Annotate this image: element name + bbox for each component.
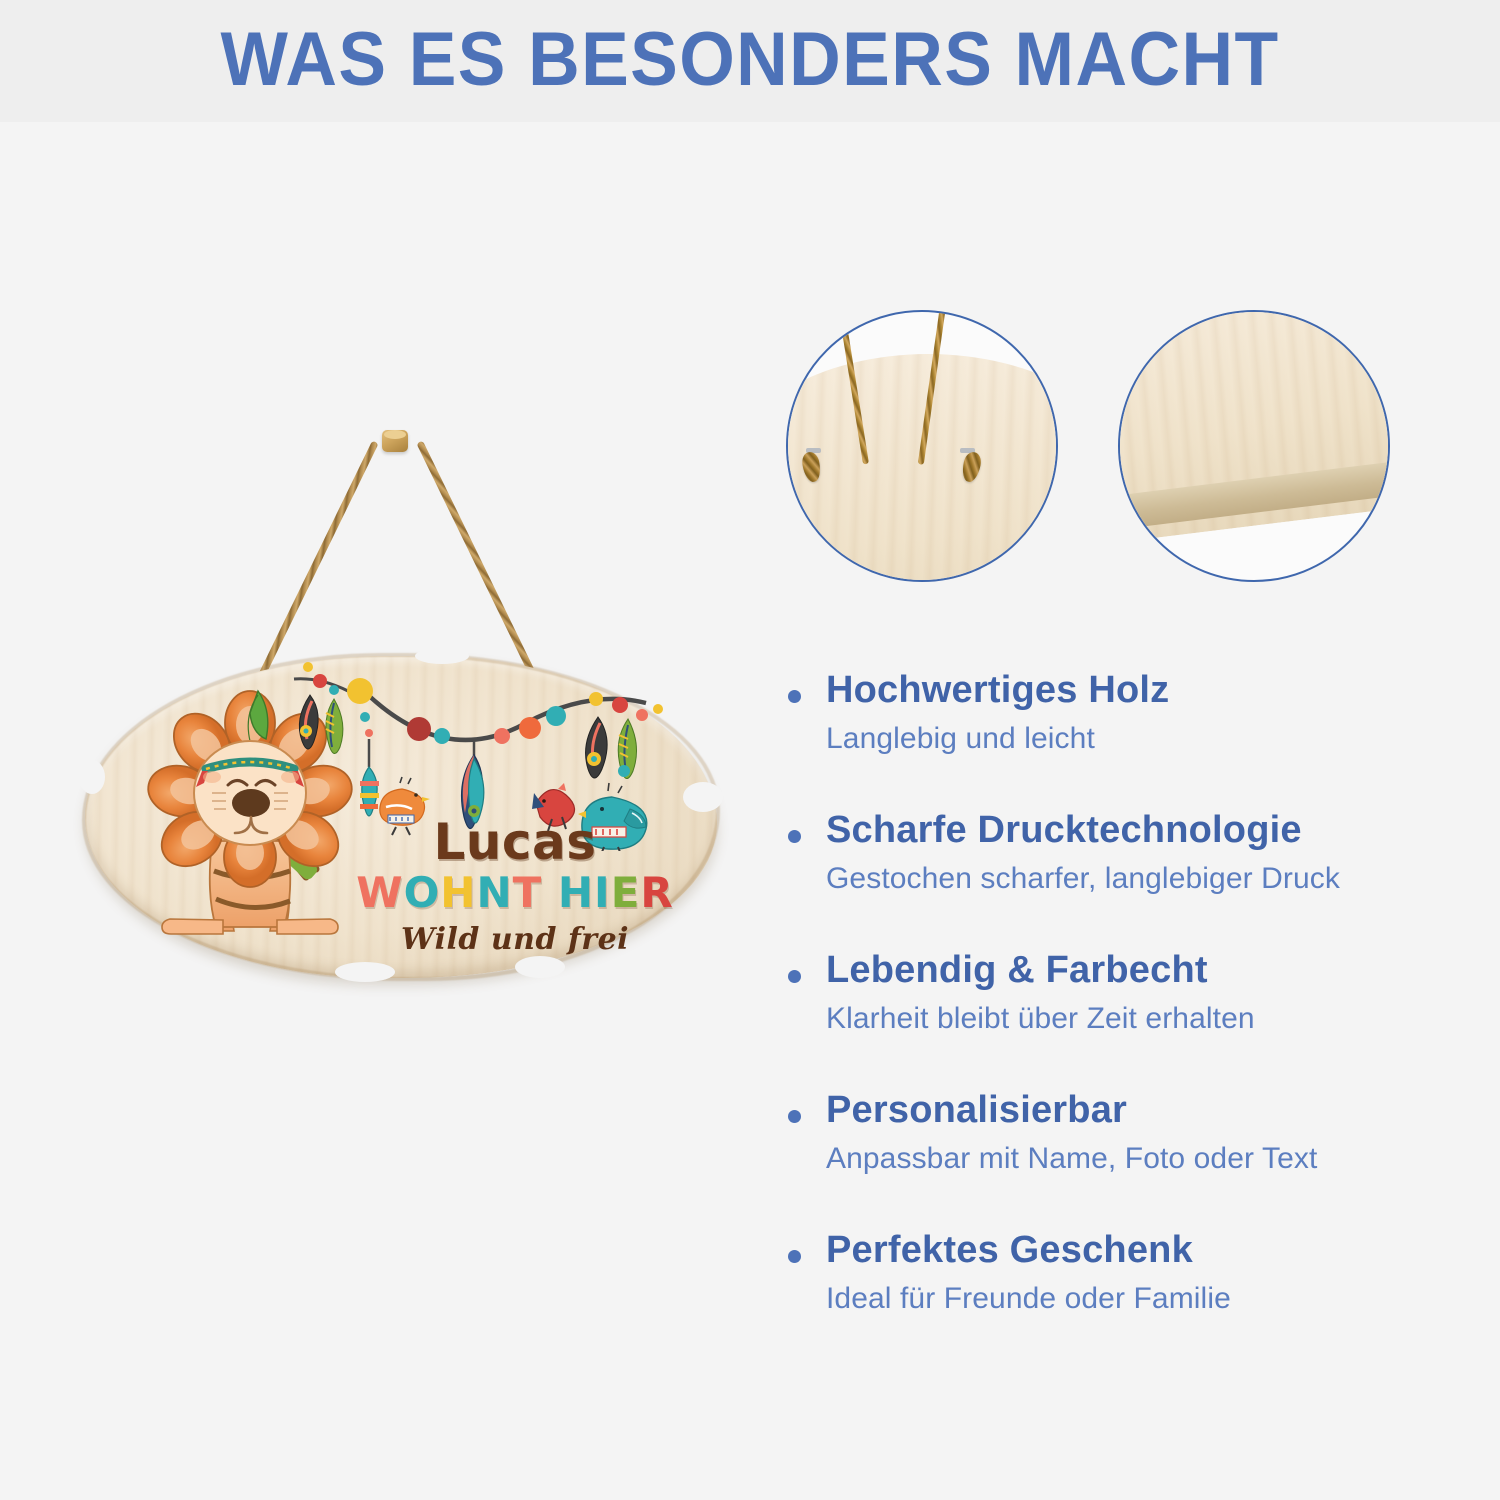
feature-item: Perfektes Geschenk Ideal für Freunde ode… bbox=[782, 1226, 1442, 1366]
bullet-dot-icon bbox=[788, 830, 801, 843]
feature-heading: Personalisierbar bbox=[826, 1089, 1127, 1132]
nose bbox=[232, 789, 270, 817]
sign-tagline: Wild und frei bbox=[340, 922, 690, 957]
feature-item: Scharfe Drucktechnologie Gestochen schar… bbox=[782, 806, 1442, 946]
bark-notch bbox=[515, 956, 565, 978]
feature-subtext: Klarheit bleibt über Zeit erhalten bbox=[826, 1002, 1255, 1036]
detail-circle-rope-knot bbox=[786, 310, 1058, 582]
feature-list: Hochwertiges Holz Langlebig und leicht S… bbox=[782, 666, 1442, 1366]
bullet-dot-icon bbox=[788, 690, 801, 703]
wood-slice-board: Lucas WOHNT HIER Wild und frei bbox=[85, 656, 717, 978]
page-title: WAS ES BESONDERS MACHT bbox=[45, 16, 1455, 103]
bark-notch bbox=[203, 647, 245, 665]
sign-headline: WOHNT HIER bbox=[340, 871, 690, 915]
feature-heading: Perfektes Geschenk bbox=[826, 1229, 1193, 1272]
feature-heading: Hochwertiges Holz bbox=[826, 669, 1169, 712]
feature-subtext: Anpassbar mit Name, Foto oder Text bbox=[826, 1142, 1317, 1176]
bead-large bbox=[347, 678, 373, 704]
feature-heading: Lebendig & Farbecht bbox=[826, 949, 1208, 992]
feature-item: Lebendig & Farbecht Klarheit bleibt über… bbox=[782, 946, 1442, 1086]
sign-text-block: Lucas WOHNT HIER Wild und frei bbox=[340, 816, 690, 957]
product-hanging-sign: Lucas WOHNT HIER Wild und frei bbox=[60, 420, 740, 1000]
infographic-page: WAS ES BESONDERS MACHT bbox=[0, 0, 1500, 1500]
sign-name: Lucas bbox=[340, 816, 690, 869]
feature-subtext: Ideal für Freunde oder Familie bbox=[826, 1282, 1231, 1316]
bullet-dot-icon bbox=[788, 1110, 801, 1123]
bark-notch bbox=[79, 760, 105, 794]
bark-notch bbox=[335, 962, 395, 982]
detail-circle-board-edge bbox=[1118, 310, 1390, 582]
bullet-dot-icon bbox=[788, 1250, 801, 1263]
feather-cluster-right-icon bbox=[586, 717, 637, 779]
bullet-dot-icon bbox=[788, 970, 801, 983]
feather-hanging-icon bbox=[360, 739, 379, 816]
hanger-peg-icon bbox=[382, 430, 408, 452]
board-closeup bbox=[786, 354, 1058, 582]
feature-item: Hochwertiges Holz Langlebig und leicht bbox=[782, 666, 1442, 806]
feather-cluster-left-icon bbox=[299, 695, 343, 754]
feature-heading: Scharfe Drucktechnologie bbox=[826, 809, 1302, 852]
feature-subtext: Gestochen scharfer, langlebiger Druck bbox=[826, 862, 1340, 896]
feature-item: Personalisierbar Anpassbar mit Name, Fot… bbox=[782, 1086, 1442, 1226]
feature-subtext: Langlebig und leicht bbox=[826, 722, 1095, 756]
